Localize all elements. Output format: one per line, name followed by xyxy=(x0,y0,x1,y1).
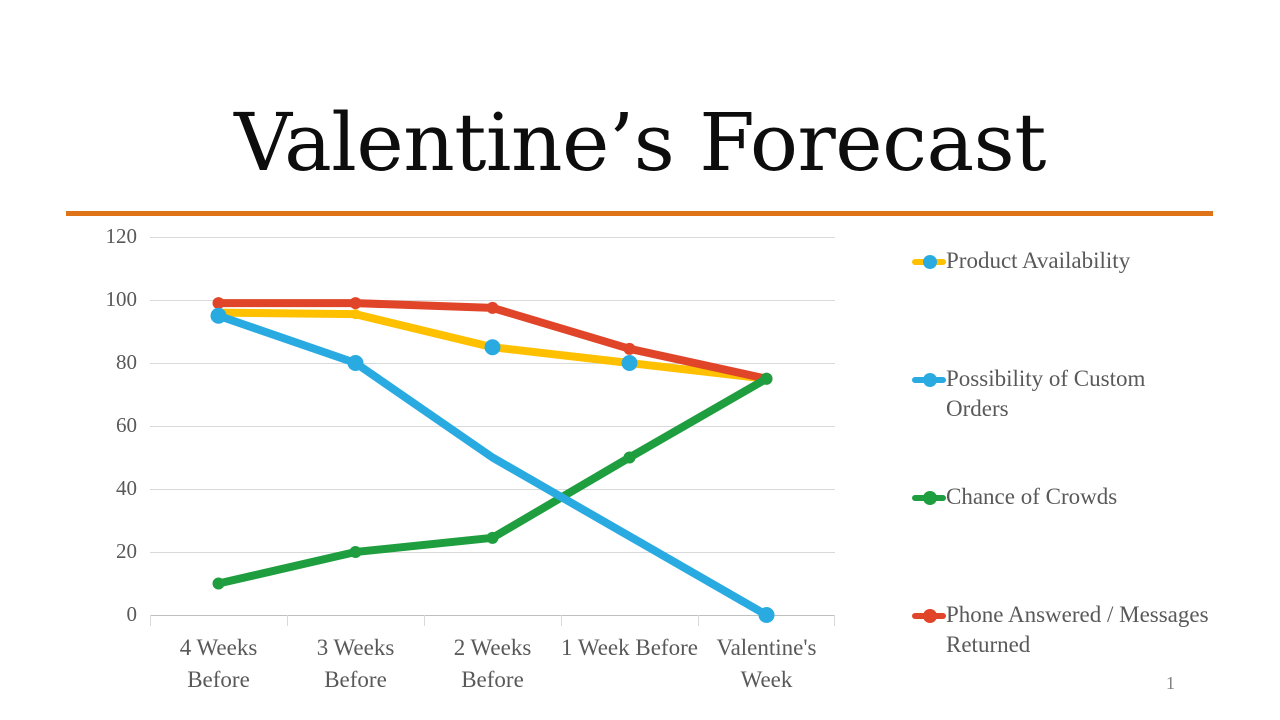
legend-swatch-icon xyxy=(912,605,946,627)
x-axis-tick xyxy=(150,615,151,626)
y-axis-tick-label: 100 xyxy=(77,289,137,310)
series-marker-phone-answered xyxy=(213,297,225,309)
legend-label: Possibility of Custom Orders xyxy=(946,364,1212,424)
x-axis-tick xyxy=(834,615,835,626)
series-marker-phone-answered xyxy=(624,343,636,355)
y-axis-tick-label: 40 xyxy=(77,478,137,499)
y-axis-labels: 020406080100120 xyxy=(75,237,137,615)
series-marker-chance-of-crowds xyxy=(350,546,362,558)
chart-series-layer xyxy=(150,237,835,615)
x-axis-category-label: 4 Weeks Before xyxy=(150,632,287,696)
series-marker-possibility-of-custom-orders xyxy=(348,355,364,371)
series-marker-chance-of-crowds xyxy=(624,452,636,464)
series-marker-phone-answered xyxy=(487,302,499,314)
legend-swatch-icon xyxy=(912,487,946,509)
x-axis-category-label: Valentine's Week xyxy=(698,632,835,696)
page-number: 1 xyxy=(1166,673,1175,693)
legend-swatch-icon xyxy=(912,369,946,391)
y-axis-tick-label: 120 xyxy=(77,226,137,247)
y-axis-tick-label: 80 xyxy=(77,352,137,373)
series-marker-chance-of-crowds xyxy=(761,373,773,385)
series-marker-chance-of-crowds xyxy=(487,532,499,544)
x-axis-labels: 4 Weeks Before3 Weeks Before2 Weeks Befo… xyxy=(150,632,835,712)
legend-entry[interactable]: Phone Answered / Messages Returned xyxy=(912,600,1212,660)
legend-entry[interactable]: Chance of Crowds xyxy=(912,482,1212,512)
x-axis-tick xyxy=(424,615,425,626)
legend-entry[interactable]: Possibility of Custom Orders xyxy=(912,364,1212,424)
y-axis-tick-label: 0 xyxy=(77,604,137,625)
x-axis-category-label: 2 Weeks Before xyxy=(424,632,561,696)
series-marker-possibility-of-custom-orders xyxy=(622,355,638,371)
series-marker-phone-answered xyxy=(350,297,362,309)
page-title: Valentine’s Forecast xyxy=(0,95,1280,191)
legend-label: Chance of Crowds xyxy=(946,482,1117,512)
series-marker-possibility-of-custom-orders xyxy=(211,308,227,324)
x-axis-tick xyxy=(561,615,562,626)
title-divider-rule xyxy=(66,211,1213,216)
chart-legend: Product AvailabilityPossibility of Custo… xyxy=(912,246,1212,676)
series-line-chance-of-crowds xyxy=(219,379,767,584)
series-marker-possibility-of-custom-orders xyxy=(759,607,775,623)
legend-swatch-icon xyxy=(912,251,946,273)
series-marker-product-availability xyxy=(351,309,361,319)
x-axis-category-label: 3 Weeks Before xyxy=(287,632,424,696)
x-axis-tick xyxy=(287,615,288,626)
y-axis-tick-label: 60 xyxy=(77,415,137,436)
x-axis-tick xyxy=(698,615,699,626)
legend-label: Product Availability xyxy=(946,246,1130,276)
series-marker-chance-of-crowds xyxy=(213,578,225,590)
x-axis-line xyxy=(150,615,835,616)
legend-entry[interactable]: Product Availability xyxy=(912,246,1212,276)
legend-label: Phone Answered / Messages Returned xyxy=(946,600,1212,660)
y-axis-tick-label: 20 xyxy=(77,541,137,562)
x-axis-category-label: 1 Week Before xyxy=(561,632,698,664)
series-marker-possibility-of-custom-orders xyxy=(485,339,501,355)
